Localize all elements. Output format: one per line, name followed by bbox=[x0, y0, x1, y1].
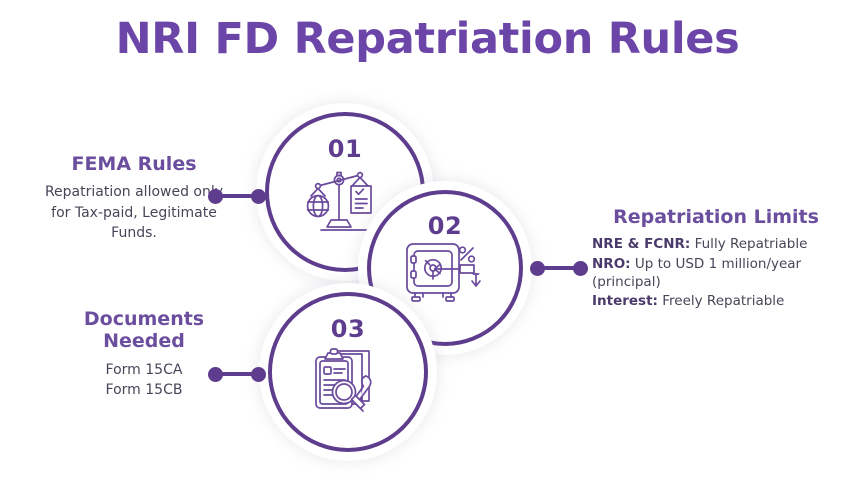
step-number-03: 03 bbox=[268, 315, 428, 343]
limits-row-label: Interest: bbox=[592, 293, 658, 309]
documents-item-1: Form 15CA bbox=[54, 360, 234, 380]
connector-dot-left bbox=[208, 189, 223, 204]
limits-heading: Repatriation Limits bbox=[592, 206, 840, 228]
infographic-canvas: NRI FD Repatriation Rules 01 bbox=[0, 0, 855, 486]
connector-dot-right bbox=[251, 189, 266, 204]
connector-bar bbox=[222, 372, 252, 376]
documents-item-2: Form 15CB bbox=[54, 380, 234, 400]
block-fema-rules: FEMA Rules Repatriation allowed only for… bbox=[44, 153, 224, 243]
limits-row-interest: Interest: Freely Repatriable bbox=[592, 292, 840, 310]
fema-heading: FEMA Rules bbox=[44, 153, 224, 175]
connector-node-02-to-limits bbox=[530, 260, 588, 276]
connector-documents-to-node-03 bbox=[208, 366, 266, 382]
step-number-01: 01 bbox=[265, 135, 425, 163]
connector-dot-right bbox=[573, 261, 588, 276]
limits-row-nre-fcnr: NRE & FCNR: Fully Repatriable bbox=[592, 235, 840, 253]
limits-row-value: Fully Repatriable bbox=[690, 236, 807, 252]
limits-row-label: NRO: bbox=[592, 256, 631, 272]
limits-row-nro: NRO: Up to USD 1 million/year (principal… bbox=[592, 255, 840, 292]
limits-row-value: Freely Repatriable bbox=[658, 293, 784, 309]
clipboard-documents-magnifier-pen-icon bbox=[268, 344, 428, 416]
safe-vault-percent-arrow-icon bbox=[367, 240, 523, 306]
step-circle-03[interactable]: 03 bbox=[268, 292, 428, 452]
block-repatriation-limits: Repatriation Limits NRE & FCNR: Fully Re… bbox=[592, 206, 840, 312]
connector-dot-left bbox=[530, 261, 545, 276]
connector-bar bbox=[544, 266, 574, 270]
page-title: NRI FD Repatriation Rules bbox=[0, 14, 855, 64]
connector-dot-right bbox=[251, 367, 266, 382]
documents-heading: Documents Needed bbox=[54, 308, 234, 353]
fema-body: Repatriation allowed only for Tax-paid, … bbox=[44, 182, 224, 243]
connector-fema-to-node-01 bbox=[208, 188, 266, 204]
step-number-02: 02 bbox=[367, 212, 523, 240]
connector-bar bbox=[222, 194, 252, 198]
block-documents-needed: Documents Needed Form 15CA Form 15CB bbox=[54, 308, 234, 400]
connector-dot-left bbox=[208, 367, 223, 382]
limits-row-label: NRE & FCNR: bbox=[592, 236, 690, 252]
